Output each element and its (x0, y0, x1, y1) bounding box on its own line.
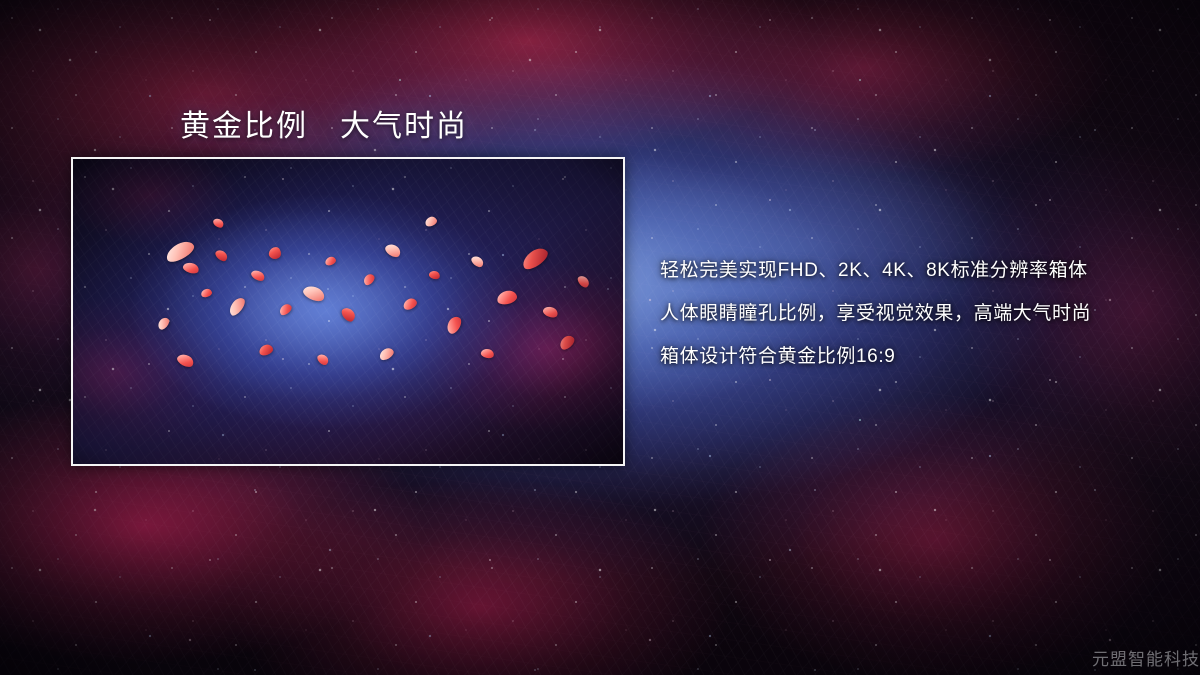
company-watermark: 元盟智能科技 (1092, 645, 1200, 670)
image-panel (71, 157, 625, 466)
presentation-slide: 黄金比例 大气时尚 (0, 0, 1200, 675)
slide-title: 黄金比例 大气时尚 (180, 101, 468, 145)
body-line: 人体眼睛瞳孔比例，享受视觉效果，高端大气时尚 (660, 292, 1091, 335)
body-line: 箱体设计符合黄金比例16:9 (660, 335, 1091, 378)
panel-vignette (73, 159, 623, 464)
body-text-block: 轻松完美实现FHD、2K、4K、8K标准分辨率箱体 人体眼睛瞳孔比例，享受视觉效… (660, 249, 1091, 378)
body-line: 轻松完美实现FHD、2K、4K、8K标准分辨率箱体 (660, 249, 1091, 292)
